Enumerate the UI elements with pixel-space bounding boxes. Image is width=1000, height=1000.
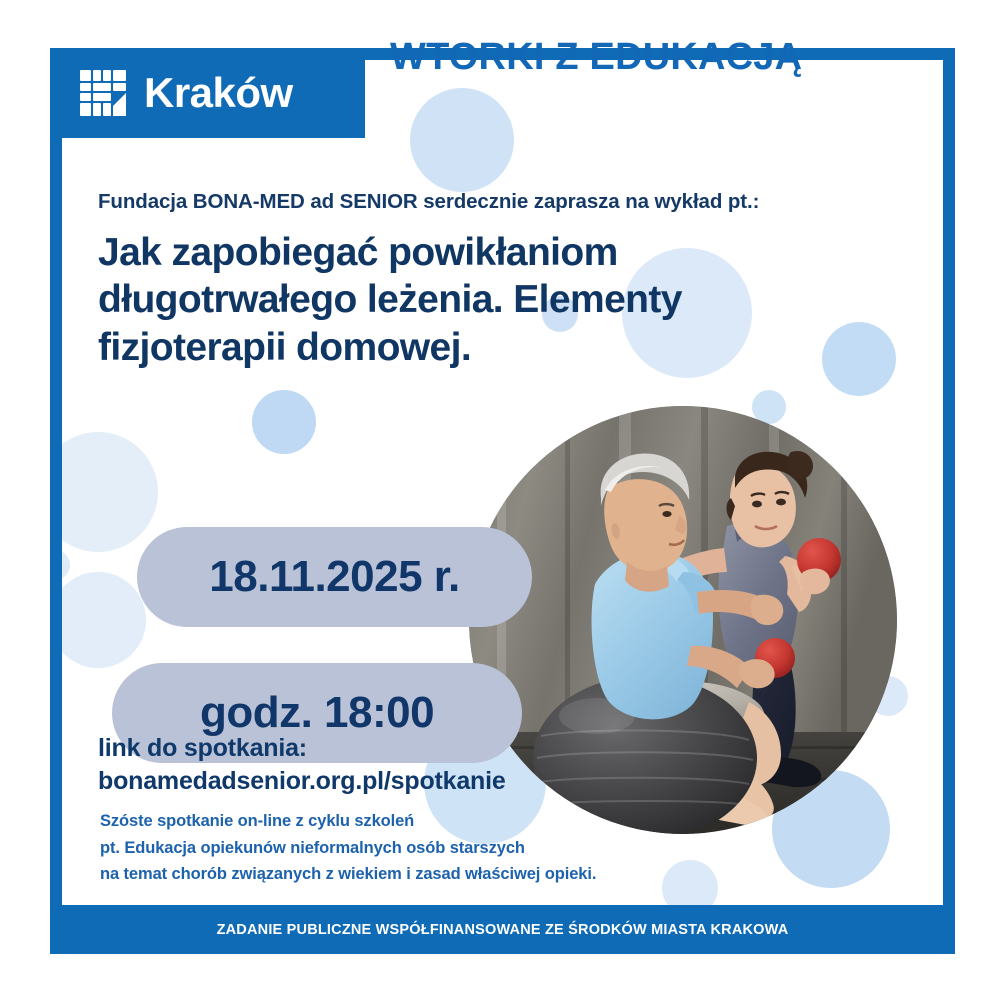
meeting-link-block: link do spotkania: bonamedadsenior.org.p… bbox=[98, 732, 658, 798]
decorative-bubble bbox=[252, 390, 316, 454]
fine-print-line: Szóste spotkanie on-line z cyklu szkoleń bbox=[100, 808, 720, 835]
headline-area: Fundacja BONA-MED ad SENIOR serdecznie z… bbox=[98, 190, 798, 371]
frame-left-bar bbox=[50, 48, 62, 954]
decorative-bubble bbox=[62, 432, 158, 552]
meeting-link-label: link do spotkania: bbox=[98, 732, 658, 765]
fine-print-line: pt. Edukacja opiekunów nieformalnych osó… bbox=[100, 835, 720, 862]
footer-funding-note: ZADANIE PUBLICZNE WSPÓŁFINANSOWANE ZE ŚR… bbox=[50, 905, 955, 954]
decorative-bubble bbox=[62, 572, 146, 668]
poster-root: Fundacja BONA-MED ad SENIOR serdecznie z… bbox=[0, 0, 1000, 1000]
title-line: fizjoterapii domowej. bbox=[98, 324, 798, 372]
event-date-pill: 18.11.2025 r. bbox=[137, 527, 532, 627]
decorative-bubble bbox=[410, 88, 514, 192]
krakow-logo-bar: Kraków bbox=[50, 48, 365, 138]
kicker-text: Fundacja BONA-MED ad SENIOR serdecznie z… bbox=[98, 190, 798, 215]
decorative-bubble bbox=[62, 550, 70, 580]
fine-print-block: Szóste spotkanie on-line z cyklu szkoleń… bbox=[100, 808, 720, 888]
title-line: długotrwałego leżenia. Elementy bbox=[98, 276, 798, 324]
krakow-city-emblem-icon bbox=[80, 70, 126, 116]
fine-print-line: na temat chorób związanych z wiekiem i z… bbox=[100, 861, 720, 888]
frame-right-bar bbox=[943, 48, 955, 954]
decorative-bubble bbox=[822, 322, 896, 396]
krakow-wordmark: Kraków bbox=[144, 72, 293, 114]
title-line: Jak zapobiegać powikłaniom bbox=[98, 229, 798, 277]
page-title: Jak zapobiegać powikłaniom długotrwałego… bbox=[98, 229, 798, 372]
poster-canvas: Fundacja BONA-MED ad SENIOR serdecznie z… bbox=[62, 60, 943, 905]
meeting-link-url[interactable]: bonamedadsenior.org.pl/spotkanie bbox=[98, 765, 658, 798]
event-series-title: WTORKI Z EDUKACJĄ bbox=[390, 36, 802, 79]
